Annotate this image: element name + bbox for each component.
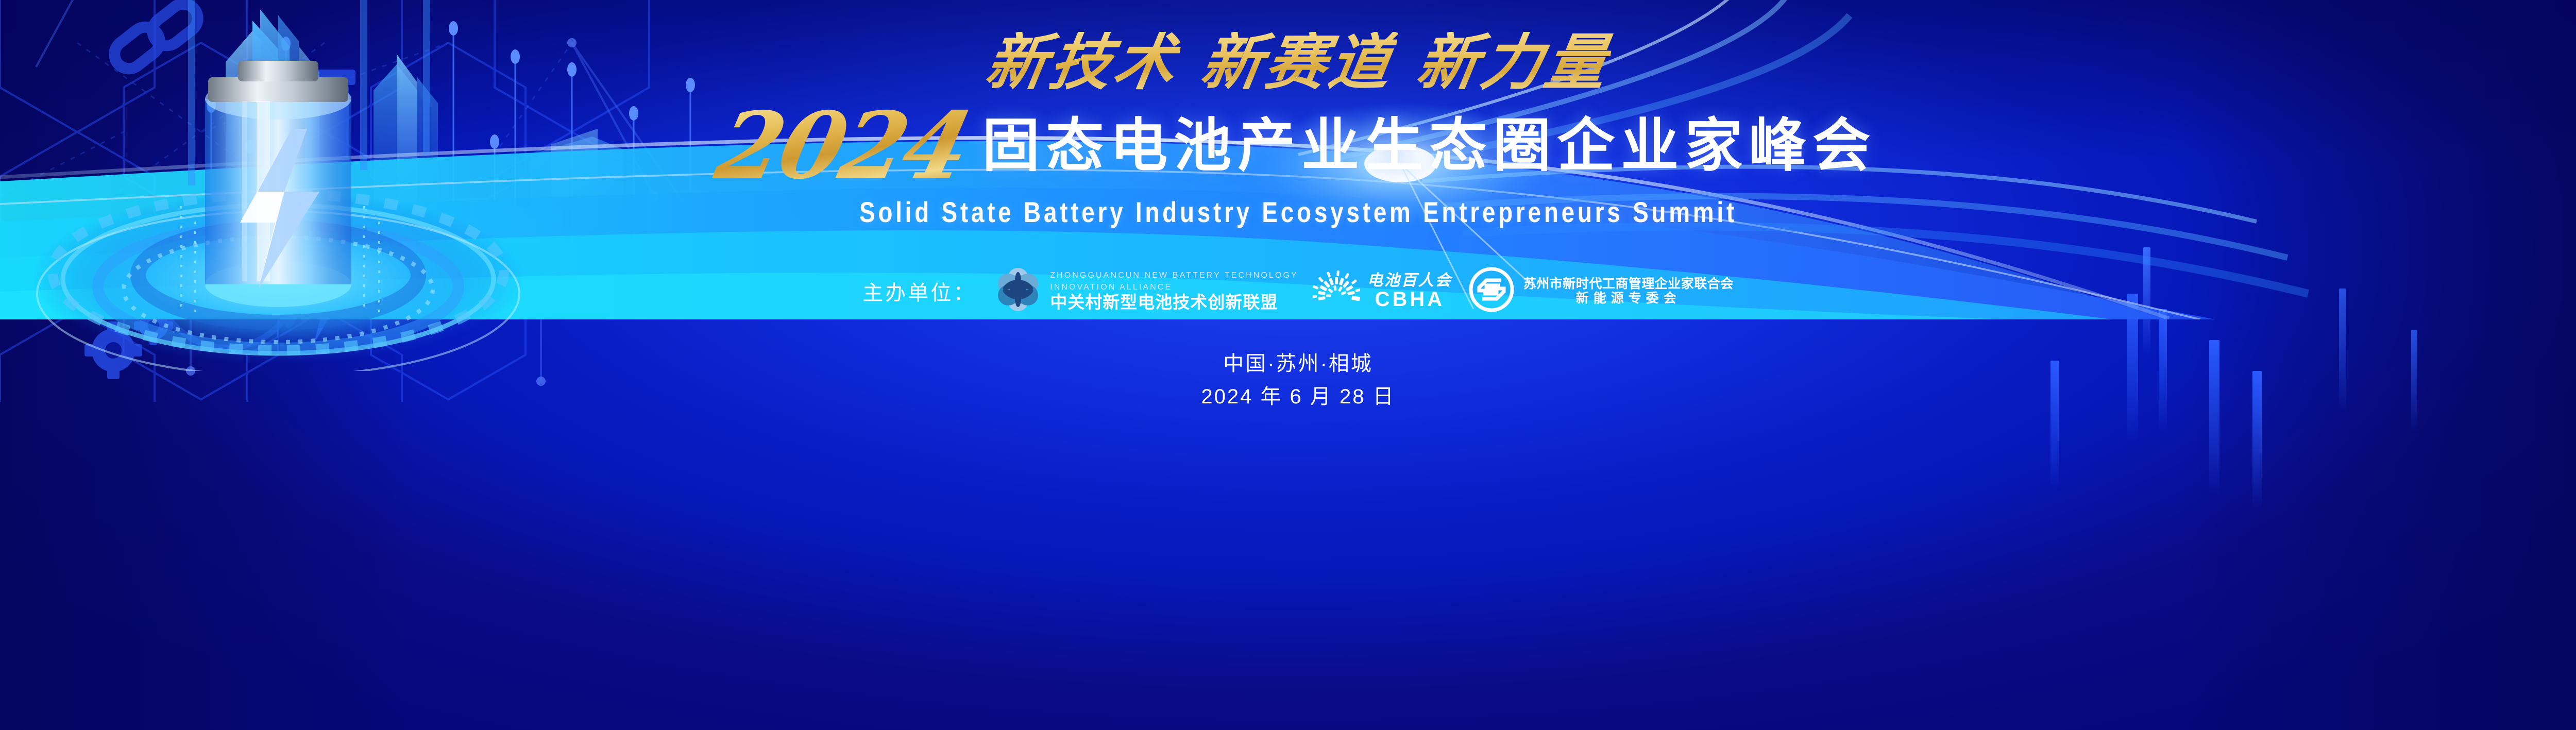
organizer-1-en-line1: ZHONGGUANCUN NEW BATTERY TECHNOLOGY — [1050, 269, 1298, 281]
organizer-item-2: 电池百人会 CBHA — [1313, 266, 1452, 316]
organizer-1-cn: 中关村新型电池技术创新联盟 — [1050, 293, 1298, 312]
slogan-word-3: 新力量 — [1413, 32, 1614, 93]
organizer-1-en-line2: INNOVATION ALLIANCE — [1050, 281, 1298, 293]
organizer-3-cn-line1: 苏州市新时代工商管理企业家联合会 — [1523, 277, 1734, 291]
slogan-word-2: 新赛道 — [1197, 32, 1399, 93]
radial-burst-logo — [1313, 266, 1360, 316]
venue-location: 中国·苏州·相城 — [1201, 349, 1395, 379]
year-2024: 2024 — [709, 100, 977, 192]
title-row: 2024 固态电池产业生态圈企业家峰会 — [0, 100, 2576, 192]
organizer-label: 主办单位： — [862, 276, 976, 306]
organizers-row: 主办单位： — [862, 265, 1734, 317]
organizer-item-1: ZHONGGUANCUN NEW BATTERY TECHNOLOGY INNO… — [993, 265, 1298, 317]
banner-content: 新技术 新赛道 新力量 2024 固态电池产业生态圈企业家峰会 Solid St… — [0, 0, 2576, 730]
organizer-2-script: 电池百人会 — [1367, 272, 1452, 289]
circular-s-monogram-logo — [1467, 265, 1516, 317]
page-title: 固态电池产业生态圈企业家峰会 — [982, 117, 1876, 175]
slogan-row: 新技术 新赛道 新力量 — [987, 15, 1609, 93]
organizer-3-cn-line2: 新能源专委会 — [1523, 291, 1734, 305]
organizer-2-acronym: CBHA — [1367, 289, 1452, 310]
flower-mandala-logo — [993, 265, 1043, 317]
title-english: Solid State Battery Industry Ecosystem E… — [859, 198, 1737, 227]
organizer-item-3: 苏州市新时代工商管理企业家联合会 新能源专委会 — [1467, 265, 1734, 317]
conference-banner: 新技术 新赛道 新力量 2024 固态电池产业生态圈企业家峰会 Solid St… — [0, 0, 2576, 730]
slogan-word-1: 新技术 — [982, 32, 1183, 93]
venue-block: 中国·苏州·相城 2024 年 6 月 28 日 — [1201, 349, 1395, 412]
venue-date: 2024 年 6 月 28 日 — [1201, 382, 1395, 412]
